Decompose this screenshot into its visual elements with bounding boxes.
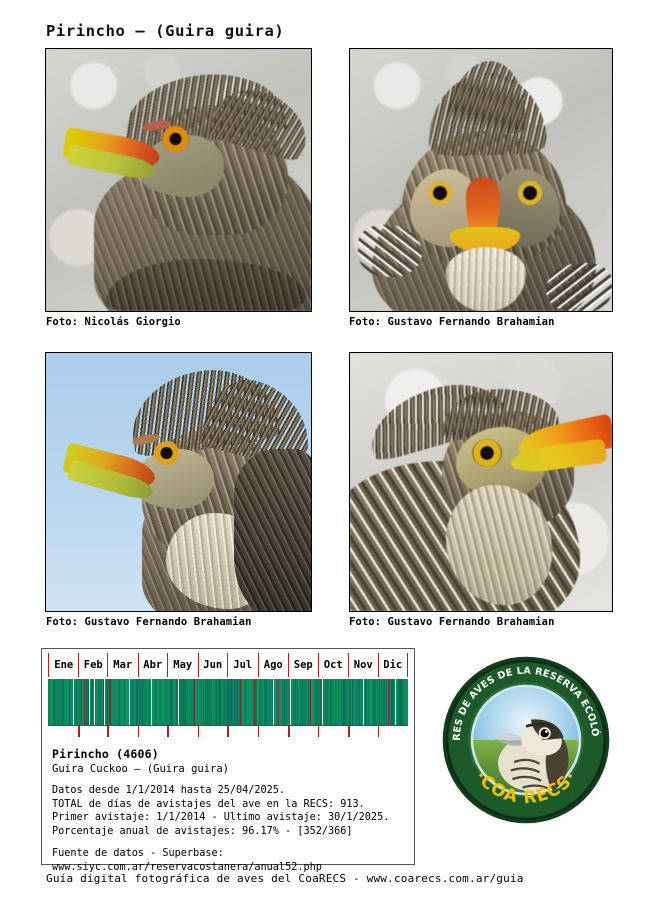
photo-4-artwork — [350, 353, 612, 611]
month-tick-sep — [288, 726, 290, 737]
photo-1-artwork — [46, 49, 311, 311]
photo-4-caption: Foto: Gustavo Fernando Brahamian — [349, 616, 555, 628]
month-header-dic: Dic — [378, 653, 408, 677]
month-header-jun: Jun — [198, 653, 228, 677]
month-tick-jul — [227, 726, 229, 737]
photo-pirincho-sky-profile — [45, 352, 312, 612]
month-header-may: May — [167, 653, 197, 677]
barcode-day — [407, 679, 408, 725]
month-header-feb: Feb — [78, 653, 107, 677]
month-header-mar: Mar — [107, 653, 137, 677]
species-english-name: Guira Cuckoo – (Guira guira) — [52, 763, 404, 775]
month-tick-ago — [258, 726, 260, 737]
month-header-ago: Ago — [258, 653, 288, 677]
stat-line-1: Datos desde 1/1/2014 hasta 25/04/2025. — [52, 784, 404, 798]
stat-line-4: Porcentaje anual de avistajes: 96.17% - … — [52, 825, 404, 839]
species-name: Pirincho (4606) — [52, 747, 404, 761]
photo-pirincho-profile-right — [349, 352, 613, 612]
month-tick-abr — [138, 726, 140, 737]
month-header-sep: Sep — [288, 653, 318, 677]
month-header-nov: Nov — [348, 653, 378, 677]
source-label: Fuente de datos - Superbase: — [52, 847, 404, 861]
month-tick-oct — [318, 726, 320, 737]
photo-1-caption: Foto: Nicolás Giorgio — [46, 316, 181, 328]
month-tick-mar — [107, 726, 109, 737]
stat-line-3: Primer avistaje: 1/1/2014 - Ultimo avist… — [52, 811, 404, 825]
coarecs-logo: CLUB DE OBSERVADORES DE AVES DE LA RESER… — [441, 655, 611, 825]
barcode-stripes — [48, 679, 408, 725]
month-tick-may — [167, 726, 169, 737]
coarecs-logo-svg: CLUB DE OBSERVADORES DE AVES DE LA RESER… — [441, 655, 611, 825]
stat-line-2: TOTAL de días de avistajes del ave en la… — [52, 798, 404, 812]
month-tick-feb — [78, 726, 80, 737]
month-header-oct: Oct — [318, 653, 348, 677]
sightings-barcode-chart — [48, 679, 408, 725]
month-header-abr: Abr — [138, 653, 168, 677]
photo-pirincho-frontal — [349, 48, 613, 312]
panel-text-block: Pirincho (4606) Guira Cuckoo – (Guira gu… — [52, 747, 404, 874]
page-footer: Guía digital fotográfica de aves del Coa… — [46, 872, 524, 885]
photo-3-caption: Foto: Gustavo Fernando Brahamian — [46, 616, 252, 628]
page-title: Pirincho – (Guira guira) — [46, 22, 284, 40]
month-header-ene: Ene — [48, 653, 78, 677]
photo-2-caption: Foto: Gustavo Fernando Brahamian — [349, 316, 555, 328]
month-header-jul: Jul — [227, 653, 257, 677]
photo-2-artwork — [350, 49, 612, 311]
month-tick-jun — [198, 726, 200, 737]
month-tick-dic — [378, 726, 380, 737]
sightings-panel: EneFebMarAbrMayJunJulAgoSepOctNovDic Pir… — [41, 648, 415, 865]
photo-3-artwork — [46, 353, 311, 611]
guide-page: Pirincho – (Guira guira) Foto: Nicolás G… — [0, 0, 660, 910]
month-tick-nov — [348, 726, 350, 737]
month-tick-row — [48, 725, 408, 738]
photo-pirincho-profile-left — [45, 48, 312, 312]
month-header-row: EneFebMarAbrMayJunJulAgoSepOctNovDic — [48, 653, 408, 679]
